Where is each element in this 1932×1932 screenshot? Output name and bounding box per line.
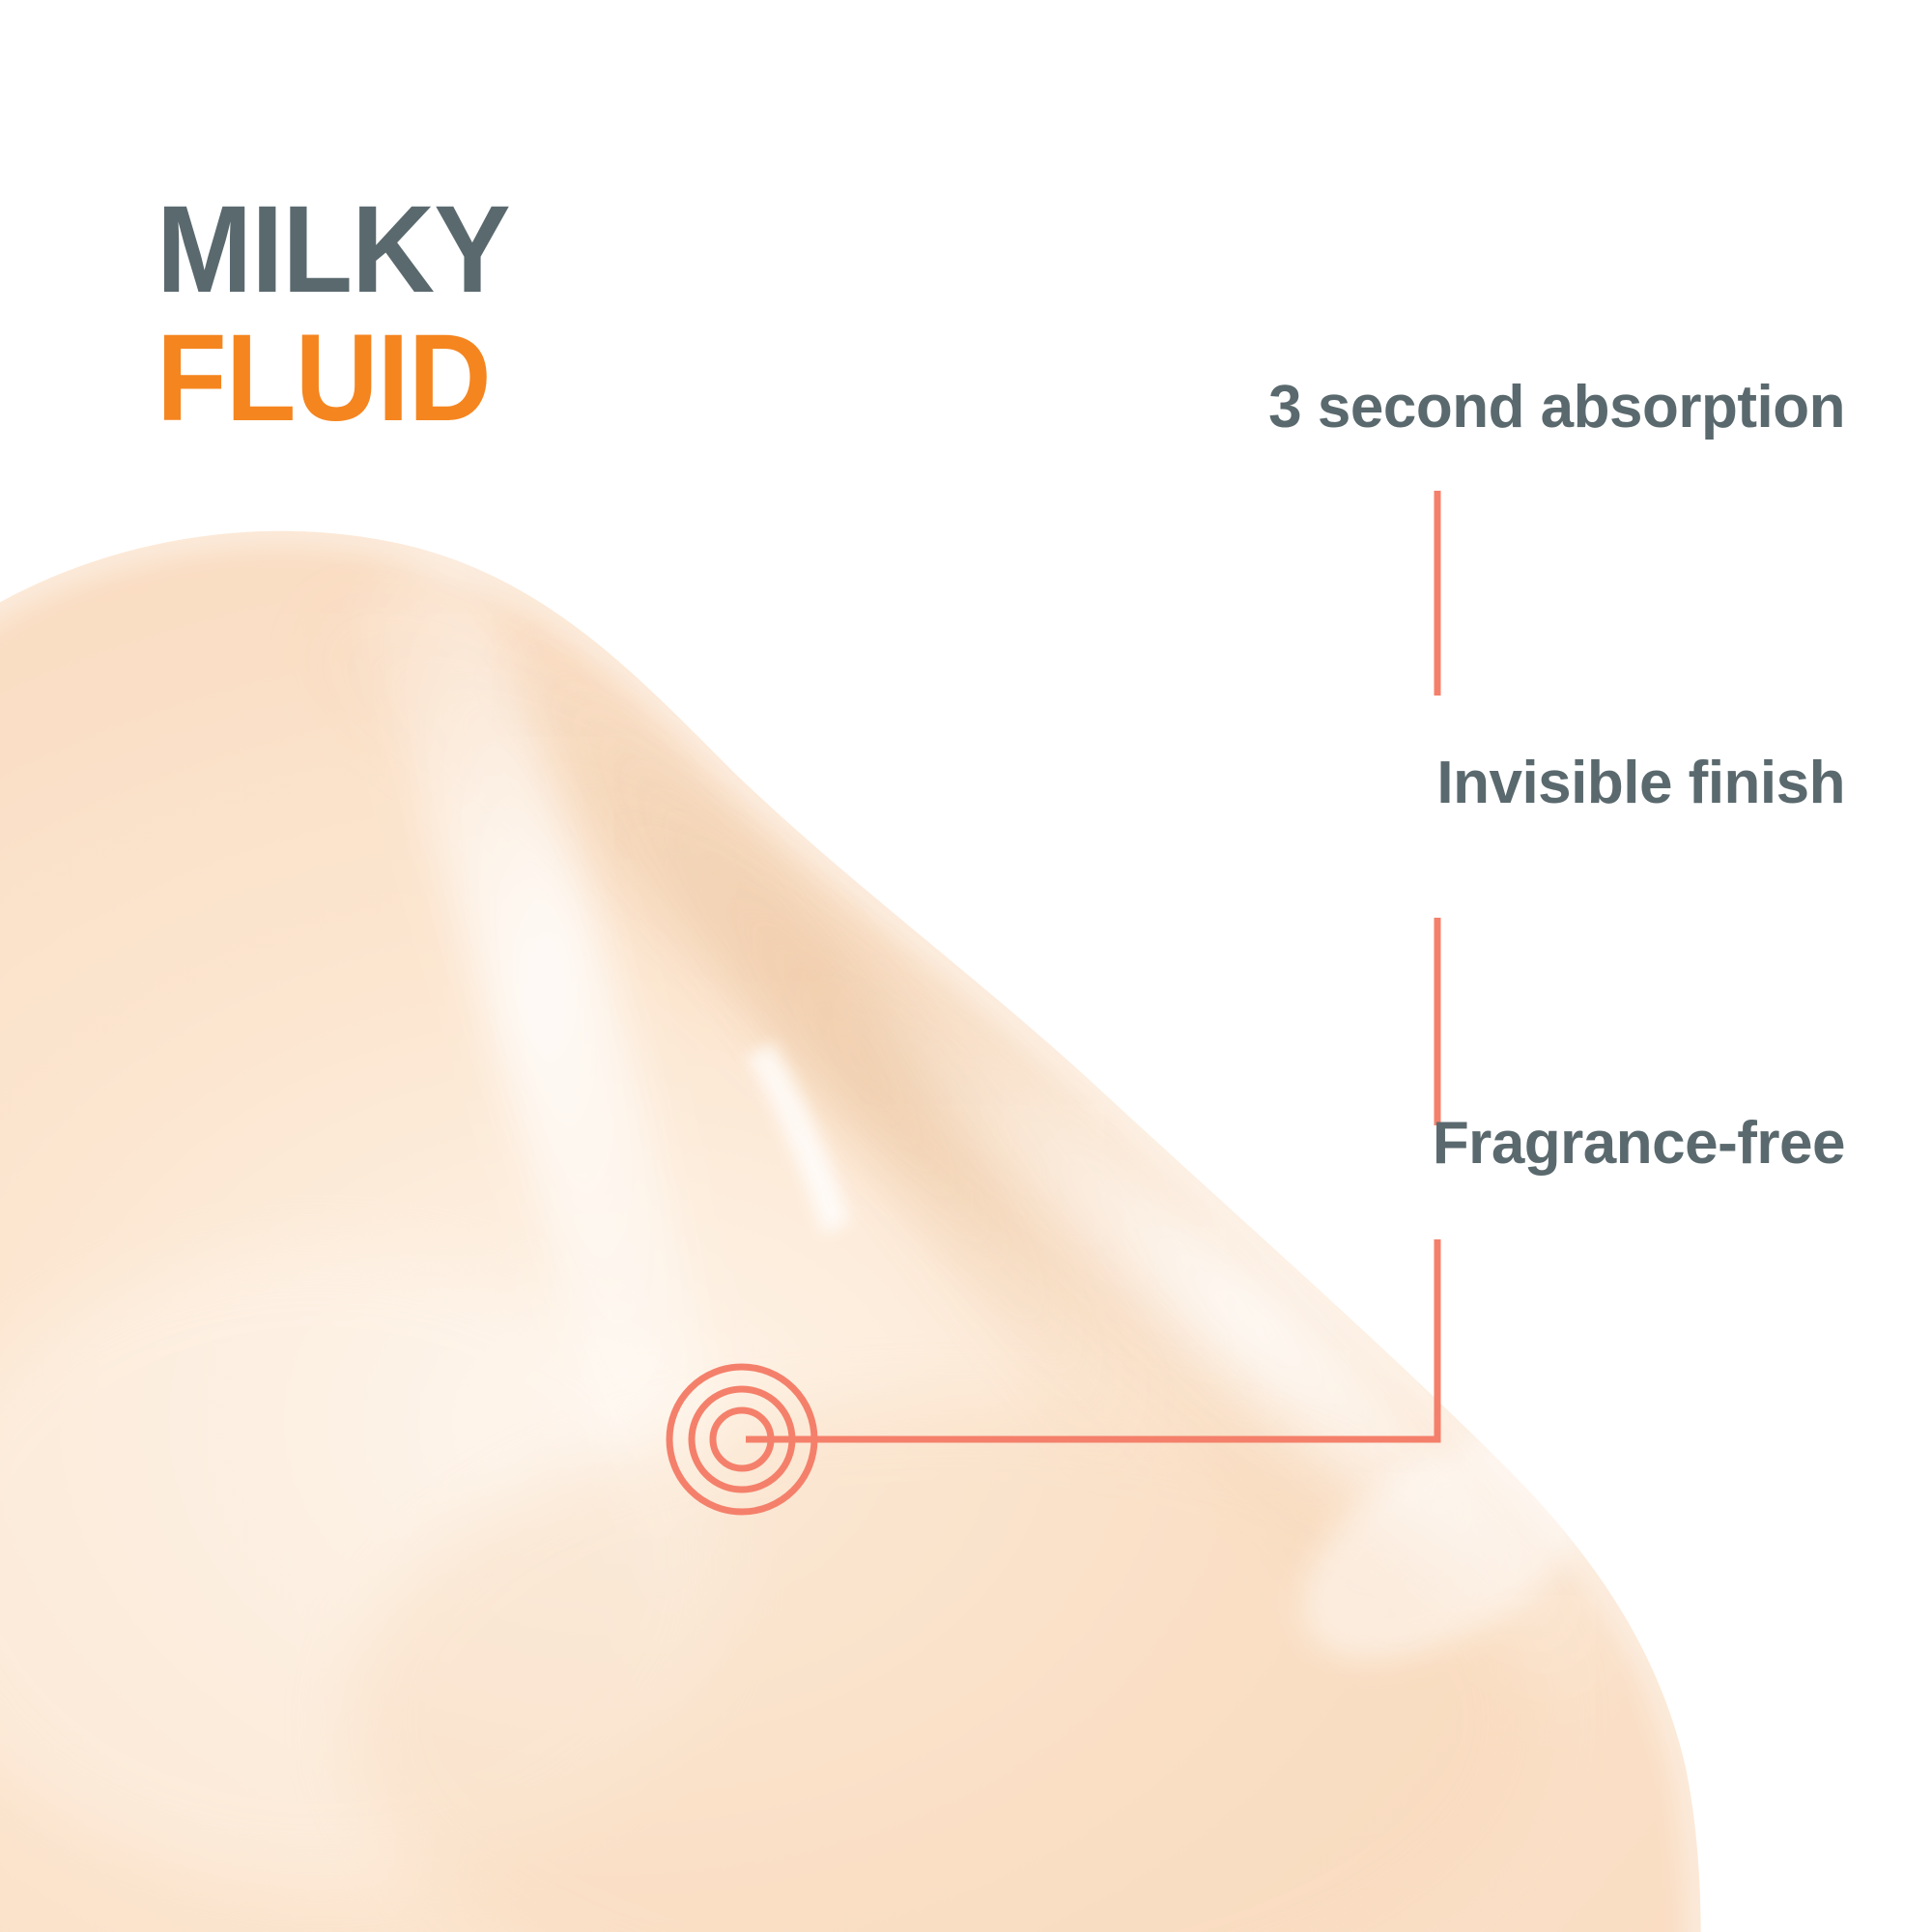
page-title: MILKY FLUID — [156, 189, 536, 440]
title-line-fluid: FLUID — [156, 318, 510, 439]
benefit-label-absorption: 3 second absorption — [1268, 373, 1845, 441]
target-ring-outer — [669, 1367, 814, 1512]
fluid-body — [0, 464, 1932, 1932]
product-benefit-infographic: MILKY FLUID 3 second absorption Invisibl… — [0, 0, 1932, 1932]
target-ring-inner — [713, 1410, 771, 1468]
connector-segment-elbow — [746, 1239, 1437, 1439]
title-line-milky: MILKY — [156, 189, 510, 310]
benefit-label-fragrance: Fragrance-free — [1433, 1109, 1845, 1178]
target-rings-icon — [669, 1367, 814, 1512]
target-ring-middle — [692, 1389, 792, 1490]
benefit-label-finish: Invisible finish — [1436, 749, 1845, 817]
